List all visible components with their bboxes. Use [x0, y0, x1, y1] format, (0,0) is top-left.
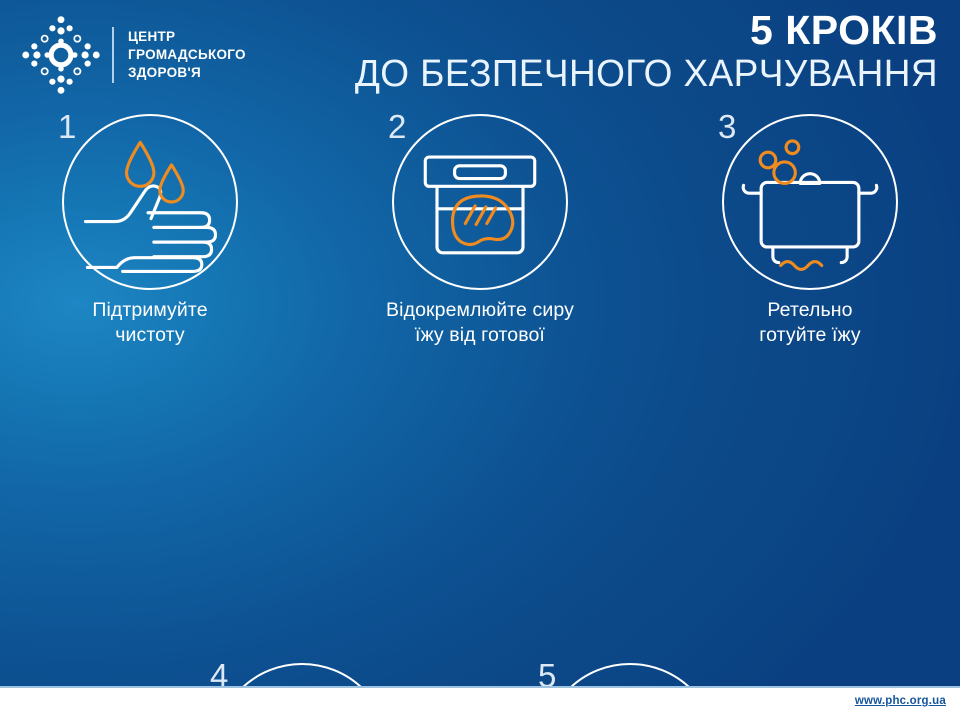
poster-canvas: ЦЕНТР ГРОМАДСЬКОГО ЗДОРОВ'Я 5 КРОКІВ ДО …: [0, 0, 960, 720]
step-circle-1: [62, 114, 238, 290]
step-item-1: 1: [20, 112, 280, 348]
footer-divider: [0, 686, 960, 688]
brand-name-line-1: ЦЕНТР: [128, 28, 246, 46]
steps-container: 1: [0, 108, 960, 663]
steps-row-top: 1: [0, 108, 960, 373]
caption-line: Ретельно: [680, 298, 940, 323]
brand-name-line-2: ГРОМАДСЬКОГО: [128, 46, 246, 64]
step-badge-3: 3: [680, 112, 940, 294]
logo-divider: [112, 27, 114, 83]
step-item-3: 3: [680, 112, 940, 348]
step-caption-3: Ретельно готуйте їжу: [680, 298, 940, 348]
brand-name: ЦЕНТР ГРОМАДСЬКОГО ЗДОРОВ'Я: [128, 28, 246, 82]
steps-row-bottom: 4: [0, 373, 960, 663]
brand-logo: ЦЕНТР ГРОМАДСЬКОГО ЗДОРОВ'Я: [18, 12, 246, 98]
phc-dot-diamond-logo-icon: [18, 12, 104, 98]
step-caption-1: Підтримуйте чистоту: [20, 298, 280, 348]
page-title: 5 КРОКІВ ДО БЕЗПЕЧНОГО ХАРЧУВАННЯ: [355, 10, 938, 94]
caption-line: готуйте їжу: [680, 323, 940, 348]
footer: www.phc.org.ua: [0, 686, 960, 720]
step-circle-2: [392, 114, 568, 290]
caption-line: їжу від готової: [350, 323, 610, 348]
step-badge-2: 2: [350, 112, 610, 294]
caption-line: Відокремлюйте сиру: [350, 298, 610, 323]
step-circle-3: [722, 114, 898, 290]
caption-line: чистоту: [20, 323, 280, 348]
step-badge-1: 1: [20, 112, 280, 294]
title-main: 5 КРОКІВ: [355, 10, 938, 51]
brand-name-line-3: ЗДОРОВ'Я: [128, 64, 246, 82]
footer-website-link[interactable]: www.phc.org.ua: [855, 695, 946, 707]
caption-line: Підтримуйте: [20, 298, 280, 323]
title-subtitle: ДО БЕЗПЕЧНОГО ХАРЧУВАННЯ: [355, 54, 938, 95]
step-item-2: 2: [350, 112, 610, 348]
header: ЦЕНТР ГРОМАДСЬКОГО ЗДОРОВ'Я 5 КРОКІВ ДО …: [0, 0, 960, 108]
step-caption-2: Відокремлюйте сиру їжу від готової: [350, 298, 610, 348]
